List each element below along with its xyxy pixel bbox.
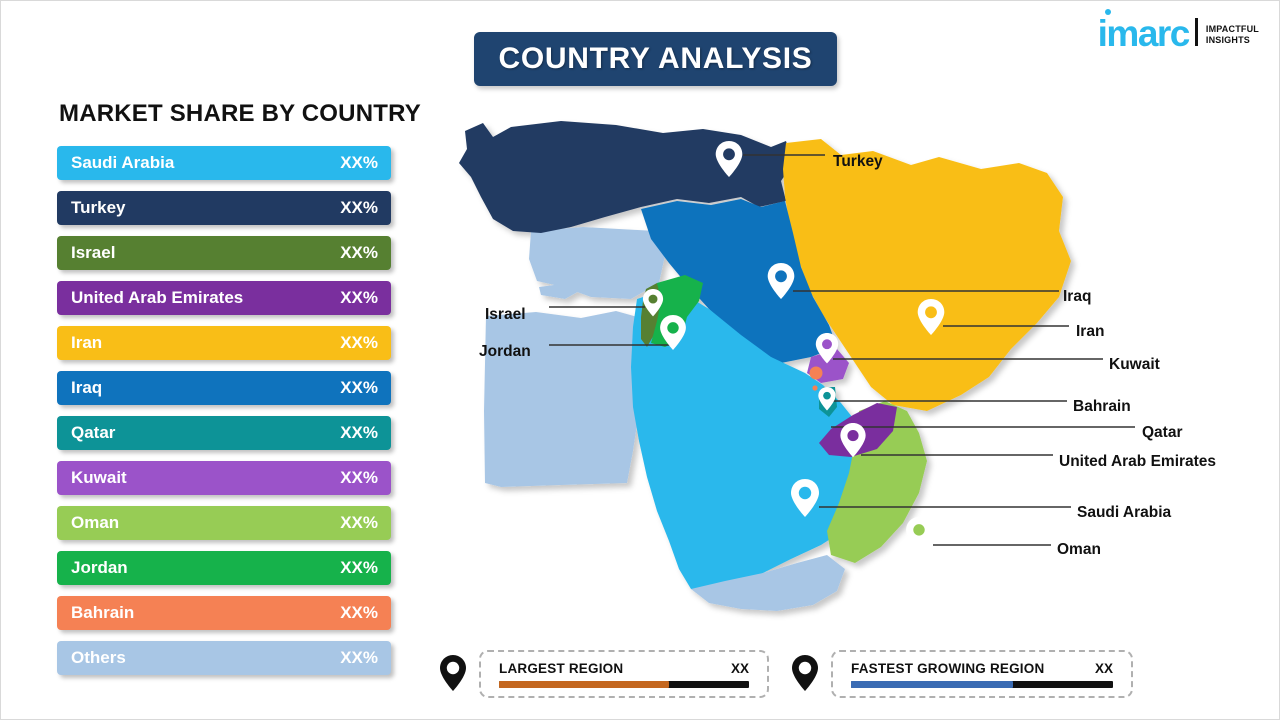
map-label-qatar: Qatar	[1142, 424, 1183, 442]
market-share-bar[interactable]: OthersXX%	[57, 641, 391, 675]
market-share-bar[interactable]: Saudi ArabiaXX%	[57, 146, 391, 180]
market-share-bar-value: XX%	[340, 423, 378, 443]
market-share-bar-value: XX%	[340, 558, 378, 578]
market-share-bar-label: Saudi Arabia	[71, 153, 174, 173]
kpi-card[interactable]: LARGEST REGIONXX	[479, 650, 769, 698]
kpi-location-pin-icon	[790, 654, 820, 692]
market-share-bar[interactable]: TurkeyXX%	[57, 191, 391, 225]
imarc-logo: imarc IMPACTFUL INSIGHTS	[1098, 18, 1259, 49]
kpi-label: FASTEST GROWING REGION	[851, 661, 1044, 676]
market-share-bar[interactable]: OmanXX%	[57, 506, 391, 540]
market-share-bar[interactable]: IranXX%	[57, 326, 391, 360]
market-share-bar-value: XX%	[340, 468, 378, 488]
market-share-bar-label: Israel	[71, 243, 115, 263]
logo-divider	[1195, 18, 1198, 46]
market-share-bar-label: Turkey	[71, 198, 126, 218]
market-share-bar[interactable]: QatarXX%	[57, 416, 391, 450]
market-share-bar-value: XX%	[340, 648, 378, 668]
logo-dot-icon	[1105, 9, 1111, 15]
page-title-text: COUNTRY ANALYSIS	[498, 42, 812, 76]
map-label-iran: Iran	[1076, 323, 1104, 341]
kpi-label: LARGEST REGION	[499, 661, 623, 676]
market-share-bar[interactable]: KuwaitXX%	[57, 461, 391, 495]
market-share-bar-label: United Arab Emirates	[71, 288, 243, 308]
map-label-kuwait: Kuwait	[1109, 356, 1160, 374]
logo-tagline-line1: IMPACTFUL	[1206, 24, 1259, 35]
map-label-united-arab-emirates: United Arab Emirates	[1059, 453, 1216, 471]
map-label-oman: Oman	[1057, 541, 1101, 559]
map-label-israel: Israel	[485, 306, 526, 324]
market-share-bar[interactable]: IraqXX%	[57, 371, 391, 405]
map-label-iraq: Iraq	[1063, 288, 1091, 306]
legend-title: MARKET SHARE BY COUNTRY	[59, 100, 421, 128]
market-share-bar[interactable]: BahrainXX%	[57, 596, 391, 630]
kpi-progress-fill	[851, 681, 1013, 688]
market-share-bar[interactable]: United Arab EmiratesXX%	[57, 281, 391, 315]
market-share-bar-label: Iraq	[71, 378, 102, 398]
market-share-bar-label: Oman	[71, 513, 119, 533]
kpi-location-pin-icon	[438, 654, 468, 692]
logo-tagline: IMPACTFUL INSIGHTS	[1206, 24, 1259, 50]
map-label-jordan: Jordan	[479, 343, 531, 361]
market-share-bar-value: XX%	[340, 513, 378, 533]
kpi-progress-track	[499, 681, 749, 688]
map-pin-oman	[906, 517, 932, 552]
market-share-bar[interactable]: IsraelXX%	[57, 236, 391, 270]
middle-east-map	[441, 111, 1141, 631]
map-label-bahrain: Bahrain	[1073, 398, 1131, 416]
market-share-bar-label: Jordan	[71, 558, 128, 578]
market-share-bar-value: XX%	[340, 198, 378, 218]
kpi-value: XX	[731, 661, 749, 676]
logo-wordmark: imarc	[1098, 18, 1189, 49]
logo-wordmark-text: imarc	[1098, 13, 1189, 54]
market-share-bar-label: Qatar	[71, 423, 115, 443]
kpi-card[interactable]: FASTEST GROWING REGIONXX	[831, 650, 1133, 698]
market-share-bar-list: Saudi ArabiaXX%TurkeyXX%IsraelXX%United …	[57, 146, 391, 686]
region-bahrain	[810, 367, 823, 380]
market-share-bar-label: Kuwait	[71, 468, 127, 488]
region-bahrain-islet	[812, 385, 817, 390]
page-title: COUNTRY ANALYSIS	[474, 32, 837, 86]
market-share-bar-value: XX%	[340, 288, 378, 308]
market-share-bar-value: XX%	[340, 243, 378, 263]
kpi-progress-track	[851, 681, 1113, 688]
market-share-bar[interactable]: JordanXX%	[57, 551, 391, 585]
kpi-value: XX	[1095, 661, 1113, 676]
market-share-bar-value: XX%	[340, 603, 378, 623]
market-share-bar-value: XX%	[340, 378, 378, 398]
map-label-saudi-arabia: Saudi Arabia	[1077, 504, 1171, 522]
market-share-bar-label: Iran	[71, 333, 102, 353]
market-share-bar-label: Bahrain	[71, 603, 134, 623]
market-share-bar-label: Others	[71, 648, 126, 668]
kpi-progress-fill	[499, 681, 669, 688]
market-share-bar-value: XX%	[340, 153, 378, 173]
logo-tagline-line2: INSIGHTS	[1206, 35, 1259, 46]
market-share-bar-value: XX%	[340, 333, 378, 353]
map-label-turkey: Turkey	[833, 153, 883, 171]
